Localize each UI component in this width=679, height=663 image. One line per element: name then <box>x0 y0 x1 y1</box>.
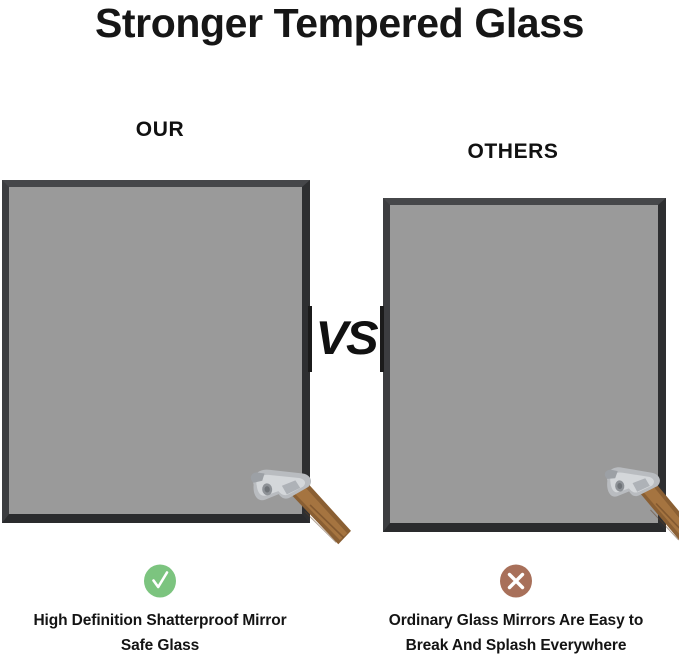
page-title: Stronger Tempered Glass <box>0 0 679 46</box>
verdict-our: High Definition Shatterproof Mirror Safe… <box>0 564 320 658</box>
verdict-text-our-line1: High Definition Shatterproof Mirror <box>0 608 320 633</box>
check-circle-icon <box>143 564 177 598</box>
verdict-text-others-line2: Break And Splash Everywhere <box>356 633 676 658</box>
verdict-others: Ordinary Glass Mirrors Are Easy to Break… <box>356 564 676 658</box>
product-comparison-infographic: Stronger Tempered Glass OUR OTHERS <box>0 0 679 663</box>
column-heading-our: OUR <box>110 118 210 142</box>
claw-hammer-icon <box>606 462 679 544</box>
column-heading-others: OTHERS <box>443 140 583 164</box>
versus-badge: VS <box>306 302 386 376</box>
verdict-text-our-line2: Safe Glass <box>0 633 320 658</box>
claw-hammer-icon <box>252 462 348 548</box>
versus-label: VS <box>304 308 387 368</box>
verdict-text-others-line1: Ordinary Glass Mirrors Are Easy to <box>356 608 676 633</box>
cross-circle-icon <box>499 564 533 598</box>
